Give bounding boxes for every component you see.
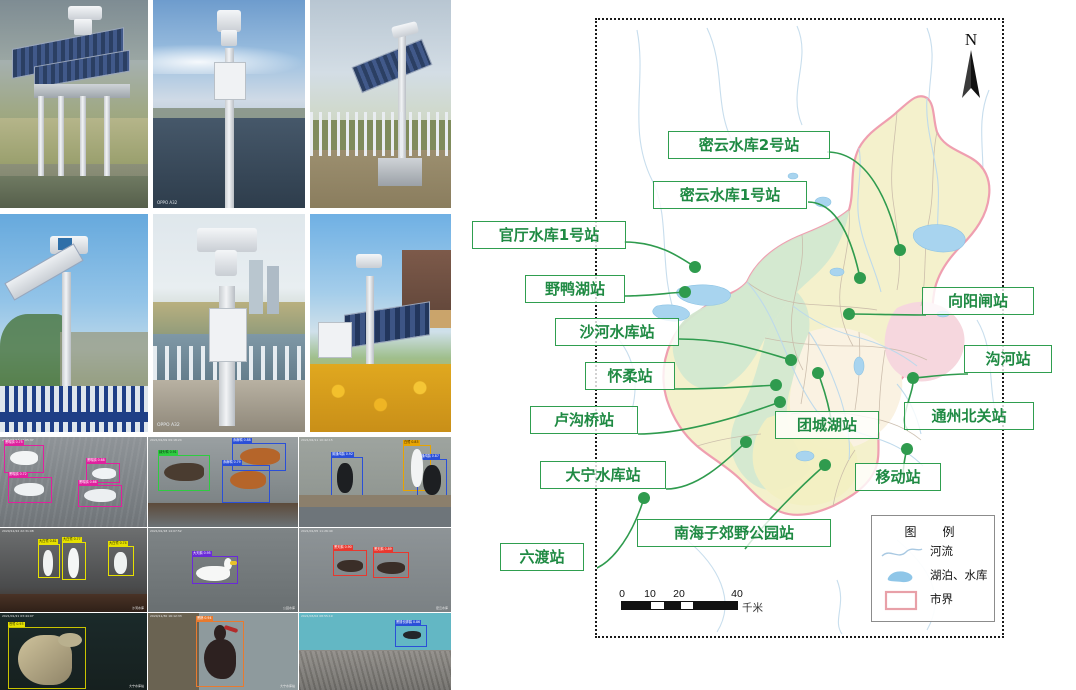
legend-label-lake: 湖泊、水库 — [930, 567, 988, 583]
bird-detection-label: 黑鹳 0.94 — [196, 616, 213, 621]
station-photo-6 — [310, 214, 451, 432]
scalebar-bar — [621, 601, 738, 610]
bird-detection-label: 黑嘴鸥 0.72 — [8, 472, 28, 477]
bird-detection-label: 黑嘴鸥 0.75 — [4, 440, 24, 445]
scale-tick-2: 20 — [673, 588, 685, 600]
scalebar-unit: 千米 — [742, 600, 763, 615]
station-label-miyun1[interactable]: 密云水库1号站 — [653, 181, 807, 209]
bird-detection-label: 赤麻鸭 0.79 — [222, 460, 242, 465]
bird-caption: 大宁水库站 — [129, 684, 144, 688]
bird-photo-1: 2021/01/14 12:05:37 黑嘴鸥 0.75 黑嘴鸥 0.72 黑嘴… — [0, 437, 147, 527]
bird-photo-4: 2020/12/22 22:31:08 大白鹭 0.81 大白鹭 0.77 大白… — [0, 528, 147, 612]
station-label-lugouqiao[interactable]: 卢沟桥站 — [530, 406, 638, 434]
station-photo-3 — [310, 0, 451, 208]
station-dot-miyun2[interactable] — [894, 244, 906, 256]
station-dot-guanting1[interactable] — [689, 261, 701, 273]
station-label-tongzhou[interactable]: 通州北关站 — [904, 402, 1034, 430]
station-dot-shahe[interactable] — [785, 354, 797, 366]
station-label-miyun2[interactable]: 密云水库2号站 — [668, 131, 830, 159]
station-dot-gouhe[interactable] — [907, 372, 919, 384]
bird-photo-9: 2021/03/02 08:55:19 黑翅长脚鹬 0.86 白鹭 0.82 — [299, 613, 451, 690]
bird-caption: 沙河水库 — [132, 606, 144, 610]
station-label-huairou[interactable]: 怀柔站 — [585, 362, 675, 390]
scale-tick-0: 0 — [619, 588, 625, 600]
figure-root: OPPO A32 — [0, 0, 1076, 690]
bird-detection-label: 大白鹭 0.77 — [62, 537, 82, 542]
scale-tick-3: 40 — [731, 588, 743, 600]
station-dot-huairou[interactable] — [770, 379, 782, 391]
legend-row-city-border: 市界 — [872, 588, 994, 612]
bird-timestamp: 2021/01/05 11:26:40 — [301, 529, 333, 533]
lake-icon — [880, 564, 924, 588]
bird-photo-6: 2021/01/05 11:26:40 黑天鹅 0.90 黑天鹅 0.89 密云… — [299, 528, 451, 612]
bird-detection-label: 绿头鸭 0.91 — [158, 450, 178, 455]
station-label-guanting1[interactable]: 官厅水库1号站 — [472, 221, 626, 249]
north-arrow: N — [954, 30, 988, 104]
bird-photo-8: 2020/11/30 16:12:33 黑鹳 0.94 大宁水库站 — [148, 613, 298, 690]
bird-detection-label: 黑翅长脚鹬 0.86 — [395, 620, 421, 625]
station-dot-daning[interactable] — [740, 436, 752, 448]
station-dot-xiangyang[interactable] — [843, 308, 855, 320]
city-border-icon — [880, 588, 924, 612]
bird-timestamp: 2021/01/21 03:44:07 — [2, 614, 34, 618]
bird-photo-7: 2021/01/21 03:44:07 苍鹭 0.93 大宁水库站 — [0, 613, 147, 690]
bird-detection-label: 黑嘴鸥 0.68 — [86, 458, 106, 463]
station-label-yeyahu[interactable]: 野鸭湖站 — [525, 275, 625, 303]
station-dot-miyun1[interactable] — [854, 272, 866, 284]
bird-detection-label: 大白鹭 0.74 — [108, 541, 128, 546]
station-dot-yidong[interactable] — [901, 443, 913, 455]
bird-photo-5: 2021/01/18 14:07:52 大天鹅 0.95 公园水库 — [148, 528, 298, 612]
station-label-nanhaizi[interactable]: 南海子郊野公园站 — [637, 519, 831, 547]
station-dot-yeyahu[interactable] — [679, 286, 691, 298]
bird-detection-label: 大白鹭 0.81 — [38, 539, 58, 544]
station-dot-liudu[interactable] — [638, 492, 650, 504]
bird-detection-label: 苍鹭 0.93 — [8, 622, 25, 627]
station-label-xiangyang[interactable]: 向阳闸站 — [922, 287, 1034, 315]
bird-caption: 公园水库 — [283, 606, 295, 610]
map-scalebar: 0 10 20 40 千米 — [621, 588, 771, 610]
station-label-liudu[interactable]: 六渡站 — [500, 543, 584, 571]
bird-detection-label: 大天鹅 0.95 — [192, 551, 212, 556]
river-icon — [880, 540, 924, 564]
legend-row-lake: 湖泊、水库 — [872, 564, 994, 588]
bird-timestamp: 2020/11/30 16:12:33 — [150, 614, 182, 618]
legend-title: 图 例 — [872, 516, 994, 540]
bird-timestamp: 2021/01/18 14:07:52 — [150, 529, 182, 533]
photo-mosaic-panel: OPPO A32 — [0, 0, 451, 690]
bird-photo-2: 2021/01/09 09:18:24 绿头鸭 0.91 赤麻鸭 0.88 赤麻… — [148, 437, 298, 527]
bird-detection-label: 黑嘴鸥 0.66 — [78, 480, 98, 485]
station-label-gouhe[interactable]: 沟河站 — [964, 345, 1052, 373]
station-dot-tuanchenghu[interactable] — [812, 367, 824, 379]
legend-label-city-border: 市界 — [930, 591, 953, 607]
bird-timestamp: 2021/03/02 08:55:19 — [301, 614, 333, 618]
north-label: N — [954, 30, 988, 50]
map-legend: 图 例 河流 湖泊、水库 市界 — [871, 515, 995, 622]
station-label-shahe[interactable]: 沙河水库站 — [555, 318, 679, 346]
bird-detection-label: 赤麻鸭 0.88 — [232, 438, 252, 443]
bird-caption: 密云水库 — [436, 606, 448, 610]
bird-detection-label: 黑天鹅 0.90 — [333, 545, 353, 550]
bird-detection-label: 普通鸬鹚 0.92 — [331, 452, 354, 457]
bird-timestamp: 2020/12/22 22:31:08 — [2, 529, 34, 533]
station-label-daning[interactable]: 大宁水库站 — [540, 461, 666, 489]
legend-label-river: 河流 — [930, 543, 953, 559]
legend-row-river: 河流 — [872, 540, 994, 564]
bird-photo-3: 2021/02/11 10:42:15 白鹭 0.83 普通鸬鹚 0.92 普通… — [299, 437, 451, 527]
bird-detection-label: 白鹭 0.83 — [403, 440, 420, 445]
station-photo-2: OPPO A32 — [153, 0, 305, 208]
station-photo-4 — [0, 214, 148, 432]
station-dot-nanhaizi[interactable] — [819, 459, 831, 471]
bird-detection-label: 黑天鹅 0.89 — [373, 547, 393, 552]
bird-timestamp: 2021/02/11 10:42:15 — [301, 438, 333, 442]
station-label-tuanchenghu[interactable]: 团城湖站 — [775, 411, 879, 439]
station-photo-5: OPPO A32 — [153, 214, 305, 432]
bird-caption: 大宁水库站 — [280, 684, 295, 688]
station-dot-lugouqiao[interactable] — [774, 396, 786, 408]
bird-timestamp: 2021/01/09 09:18:24 — [150, 438, 182, 442]
scale-tick-1: 10 — [644, 588, 656, 600]
station-photo-1 — [0, 0, 148, 208]
station-label-yidong[interactable]: 移动站 — [855, 463, 941, 491]
